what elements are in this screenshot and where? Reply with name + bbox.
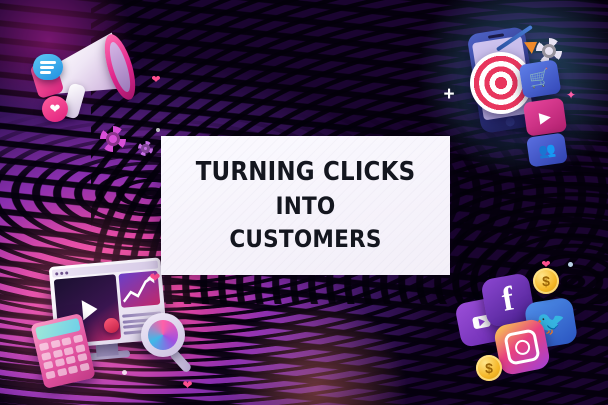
headline-line-1: TURNING CLICKS (196, 160, 416, 186)
sparkle-dot-right (568, 262, 573, 267)
poster-canvas: ❤ ❤ 🛒 ▶ 👥 + ✦ (0, 0, 608, 405)
dollar-coin-icon-2: $ (476, 355, 502, 381)
dollar-coin-icon: $ (533, 268, 559, 294)
instagram-icon (503, 328, 541, 366)
headline-line-2: INTO (276, 194, 336, 218)
headline-card: TURNING CLICKS INTO CUSTOMERS (161, 136, 450, 275)
heart-sparkle-icon-right: ❤ (540, 258, 552, 270)
headline-line-3: CUSTOMERS (229, 227, 381, 251)
facebook-icon: f (499, 280, 517, 319)
